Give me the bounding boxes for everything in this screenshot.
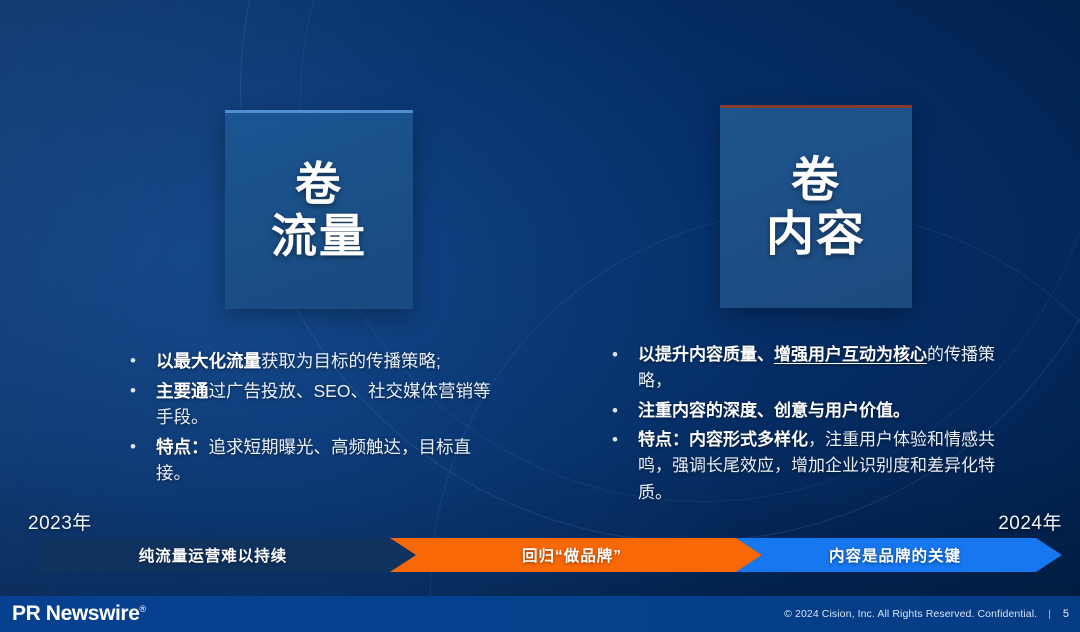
pr-newswire-logo: PR Newswire® xyxy=(12,602,146,626)
card-content-line1: 卷 xyxy=(791,154,841,207)
card-content: 卷 内容 xyxy=(720,105,912,308)
list-item-text: 以提升内容质量、增强用户互动为核心的传播策略， xyxy=(638,342,1012,395)
emphasis-text: 以最大化流量 xyxy=(156,351,261,371)
brand-text: PR Newswire xyxy=(12,602,140,625)
list-item: • 特点：追求短期曝光、高频触达，目标直接。 xyxy=(130,434,500,487)
timeline-segment-1: 纯流量运营难以持续 xyxy=(38,538,416,572)
card-traffic-line2: 流量 xyxy=(271,211,367,263)
emphasis-text: 特点：内容形式多样化 xyxy=(638,430,808,449)
timeline-year-start: 2023年 xyxy=(28,508,92,535)
list-item-text: 特点：内容形式多样化，注重用户体验和情感共鸣，强调长尾效应，增加企业识别度和差异… xyxy=(638,427,1012,506)
bullet-marker: • xyxy=(130,348,156,375)
emphasis-text: 注重内容的深度、创意与用户价值。 xyxy=(638,401,910,420)
slide-footer: PR Newswire® © 2024 Cision, Inc. All Rig… xyxy=(0,596,1080,632)
list-item: • 以提升内容质量、增强用户互动为核心的传播策略， xyxy=(612,342,1012,395)
bullet-marker: • xyxy=(130,434,156,487)
footer-meta: © 2024 Cision, Inc. All Rights Reserved.… xyxy=(784,608,1070,620)
bullet-marker: • xyxy=(612,398,638,424)
card-content-line2: 内容 xyxy=(766,208,866,262)
timeline-segment-3-label: 内容是品牌的关键 xyxy=(829,544,961,566)
emphasis-text: 以提升内容质量、 xyxy=(638,345,774,364)
bullet-marker: • xyxy=(612,427,638,506)
bullet-marker: • xyxy=(130,378,156,431)
copyright-text: © 2024 Cision, Inc. All Rights Reserved.… xyxy=(784,608,1037,620)
timeline-year-end: 2024年 xyxy=(998,508,1062,535)
list-item: • 特点：内容形式多样化，注重用户体验和情感共鸣，强调长尾效应，增加企业识别度和… xyxy=(612,427,1012,506)
list-item-text: 主要通过广告投放、SEO、社交媒体营销等手段。 xyxy=(156,378,500,431)
list-item-text: 特点：追求短期曝光、高频触达，目标直接。 xyxy=(156,434,500,487)
card-traffic: 卷 流量 xyxy=(225,110,413,309)
timeline-segment-2: 回归“做品牌” xyxy=(390,538,762,572)
page-number: 5 xyxy=(1062,608,1070,620)
bullet-list-traffic: • 以最大化流量获取为目标的传播策略; • 主要通过广告投放、SEO、社交媒体营… xyxy=(130,348,500,490)
timeline-segment-2-label: 回归“做品牌” xyxy=(522,544,622,566)
footer-separator: | xyxy=(1048,608,1051,620)
emphasis-text: 特点： xyxy=(156,437,209,457)
timeline-arrow-bar: 纯流量运营难以持续 回归“做品牌” 内容是品牌的关键 xyxy=(38,538,1062,572)
list-item-text: 以最大化流量获取为目标的传播策略; xyxy=(156,348,500,375)
timeline-segment-3: 内容是品牌的关键 xyxy=(736,538,1062,572)
body-text: 获取为目标的传播策略; xyxy=(261,351,441,371)
emphasis-text: 主要通 xyxy=(156,381,209,401)
underlined-emphasis-text: 增强用户互动为核心 xyxy=(774,345,927,364)
bullet-list-content: • 以提升内容质量、增强用户互动为核心的传播策略， • 注重内容的深度、创意与用… xyxy=(612,342,1012,509)
list-item: • 主要通过广告投放、SEO、社交媒体营销等手段。 xyxy=(130,378,500,431)
list-item: • 注重内容的深度、创意与用户价值。 xyxy=(612,398,1012,424)
slide-canvas: 卷 流量 卷 内容 • 以最大化流量获取为目标的传播策略; • 主要通过广告投放… xyxy=(0,0,1080,632)
bullet-marker: • xyxy=(612,342,638,395)
list-item-text: 注重内容的深度、创意与用户价值。 xyxy=(638,398,1012,424)
card-traffic-line1: 卷 xyxy=(295,158,343,210)
list-item: • 以最大化流量获取为目标的传播策略; xyxy=(130,348,500,375)
registered-trademark-icon: ® xyxy=(140,604,146,614)
timeline-segment-1-label: 纯流量运营难以持续 xyxy=(139,544,288,566)
